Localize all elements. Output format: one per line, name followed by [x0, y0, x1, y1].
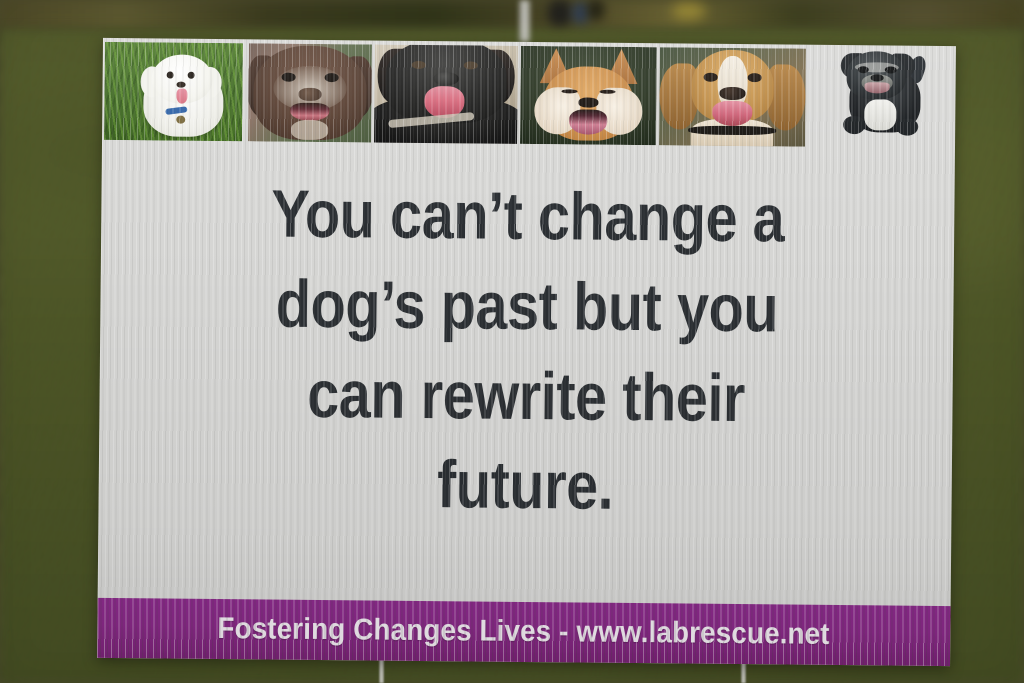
sign-message: You can’t change a dog’s past but you ca…	[158, 168, 895, 534]
message-line-3: can rewrite their	[159, 348, 893, 445]
message-line-2: dog’s past but you	[160, 258, 894, 355]
background-pole	[519, 0, 530, 42]
dog-photo-golden-beagle	[659, 47, 806, 146]
sign-footer-band: Fostering Changes Lives - www.labrescue.…	[97, 598, 951, 666]
footer-tagline-and-url: Fostering Changes Lives - www.labrescue.…	[218, 612, 831, 652]
dog-photo-senior-chocolate-lab	[248, 43, 372, 142]
background-figure	[548, 0, 572, 26]
screenshot-stage: You can’t change a dog’s past but you ca…	[0, 0, 1024, 683]
background-foliage	[672, 3, 706, 19]
yard-sign-board: You can’t change a dog’s past but you ca…	[97, 38, 956, 666]
dog-photo-black-labrador	[374, 45, 518, 144]
dog-photo-shiba-inu	[520, 46, 657, 145]
treeline	[0, 0, 1024, 30]
dog-photo-black-terrier-cutout	[808, 45, 956, 150]
dog-photo-white-bichon	[104, 42, 243, 141]
message-line-4: future.	[158, 438, 892, 535]
background-figure	[572, 2, 589, 24]
message-line-1: You can’t change a	[161, 168, 895, 265]
background-figure	[588, 0, 604, 20]
photo-strip	[102, 38, 956, 154]
